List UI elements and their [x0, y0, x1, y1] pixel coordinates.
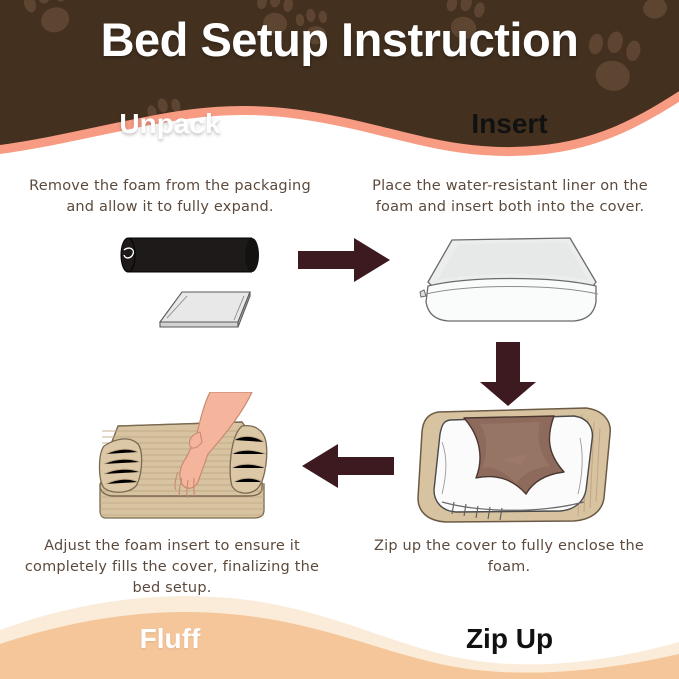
infographic-canvas: Bed Setup Instruction Unpack Insert Remo…	[0, 0, 679, 679]
arrow-left-icon	[300, 440, 396, 492]
zipping-bed-illustration	[398, 402, 628, 530]
page-title: Bed Setup Instruction	[0, 12, 679, 67]
rolled-foam-and-liner-illustration	[110, 230, 275, 340]
hand-fluffing-bed-illustration	[92, 392, 322, 524]
liner-sheet-icon	[160, 292, 250, 327]
step-label-unpack: Unpack	[0, 108, 340, 140]
footer-banner: Fluff Zip Up	[0, 584, 679, 679]
caption-zipup: Zip up the cover to fully enclose the fo…	[356, 536, 662, 578]
caption-insert: Place the water-resistant liner on the f…	[352, 176, 668, 218]
bed-zipping-icon	[418, 408, 610, 522]
step-label-fluff: Fluff	[0, 623, 340, 655]
caption-unpack: Remove the foam from the packaging and a…	[14, 176, 326, 218]
cover-cushion-illustration	[418, 228, 608, 338]
rolled-foam-icon	[121, 238, 259, 272]
step-label-insert: Insert	[340, 108, 679, 140]
step-label-zipup: Zip Up	[340, 623, 679, 655]
arrow-right-icon	[296, 234, 392, 286]
cushion-cover-icon	[420, 238, 598, 321]
header-banner: Bed Setup Instruction Unpack Insert	[0, 0, 679, 165]
arrow-down-icon	[474, 340, 542, 408]
